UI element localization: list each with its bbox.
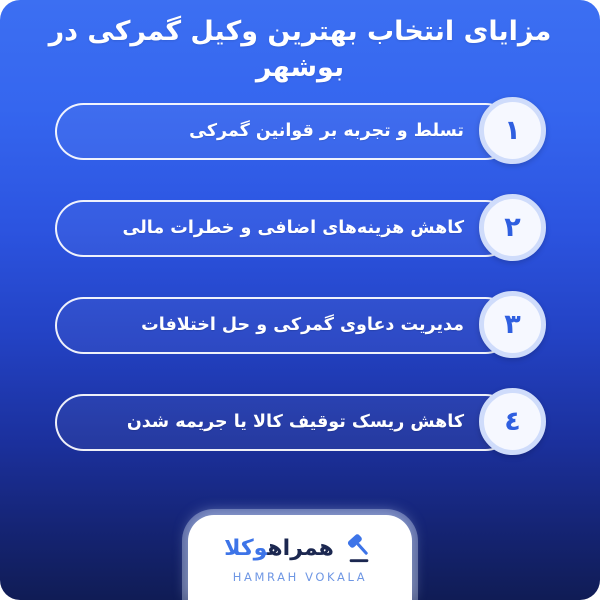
gavel-icon bbox=[342, 532, 376, 566]
logo-word-vokala: وکلا bbox=[224, 536, 267, 561]
benefit-number-3: ٣ bbox=[504, 311, 520, 338]
benefit-text-1: تسلط و تجربه بر قوانین گمرکی bbox=[189, 121, 464, 143]
title-section: مزایای انتخاب بهترین وکیل گمرکی در بوشهر bbox=[0, 14, 600, 87]
benefit-number-2: ٢ bbox=[504, 214, 520, 241]
logo-subtitle: HAMRAH VOKALA bbox=[233, 570, 367, 584]
benefit-badge-4: ٤ bbox=[479, 388, 546, 455]
list-item: کاهش هزینه‌های اضافی و خطرات مالی ٢ bbox=[55, 194, 538, 262]
logo-word-hamrah: همراه bbox=[267, 536, 333, 561]
benefit-pill-3: مدیریت دعاوی گمرکی و حل اختلافات bbox=[55, 297, 514, 354]
benefit-number-1: ١ bbox=[504, 117, 520, 144]
infographic-poster: مزایای انتخاب بهترین وکیل گمرکی در بوشهر… bbox=[0, 0, 600, 600]
benefit-number-4: ٤ bbox=[504, 408, 520, 435]
benefit-pill-1: تسلط و تجربه بر قوانین گمرکی bbox=[55, 103, 514, 160]
benefit-badge-1: ١ bbox=[479, 97, 546, 164]
list-item: کاهش ریسک توقیف کالا یا جریمه شدن ٤ bbox=[55, 388, 538, 456]
logo-wordmark: همراهوکلا bbox=[224, 538, 334, 560]
list-item: تسلط و تجربه بر قوانین گمرکی ١ bbox=[55, 97, 538, 165]
brand-logo-banner: همراهوکلا HAMRAH VOKALA bbox=[188, 515, 412, 600]
benefit-badge-3: ٣ bbox=[479, 291, 546, 358]
benefit-text-3: مدیریت دعاوی گمرکی و حل اختلافات bbox=[141, 315, 464, 337]
benefit-text-2: کاهش هزینه‌های اضافی و خطرات مالی bbox=[122, 218, 464, 240]
benefit-pill-4: کاهش ریسک توقیف کالا یا جریمه شدن bbox=[55, 394, 514, 451]
benefit-text-4: کاهش ریسک توقیف کالا یا جریمه شدن bbox=[127, 412, 464, 434]
benefit-pill-2: کاهش هزینه‌های اضافی و خطرات مالی bbox=[55, 200, 514, 257]
page-title: مزایای انتخاب بهترین وکیل گمرکی در بوشهر bbox=[18, 14, 582, 87]
list-item: مدیریت دعاوی گمرکی و حل اختلافات ٣ bbox=[55, 291, 538, 359]
logo-row: همراهوکلا bbox=[224, 532, 376, 566]
benefits-list: تسلط و تجربه بر قوانین گمرکی ١ کاهش هزین… bbox=[0, 97, 600, 485]
benefit-badge-2: ٢ bbox=[479, 194, 546, 261]
